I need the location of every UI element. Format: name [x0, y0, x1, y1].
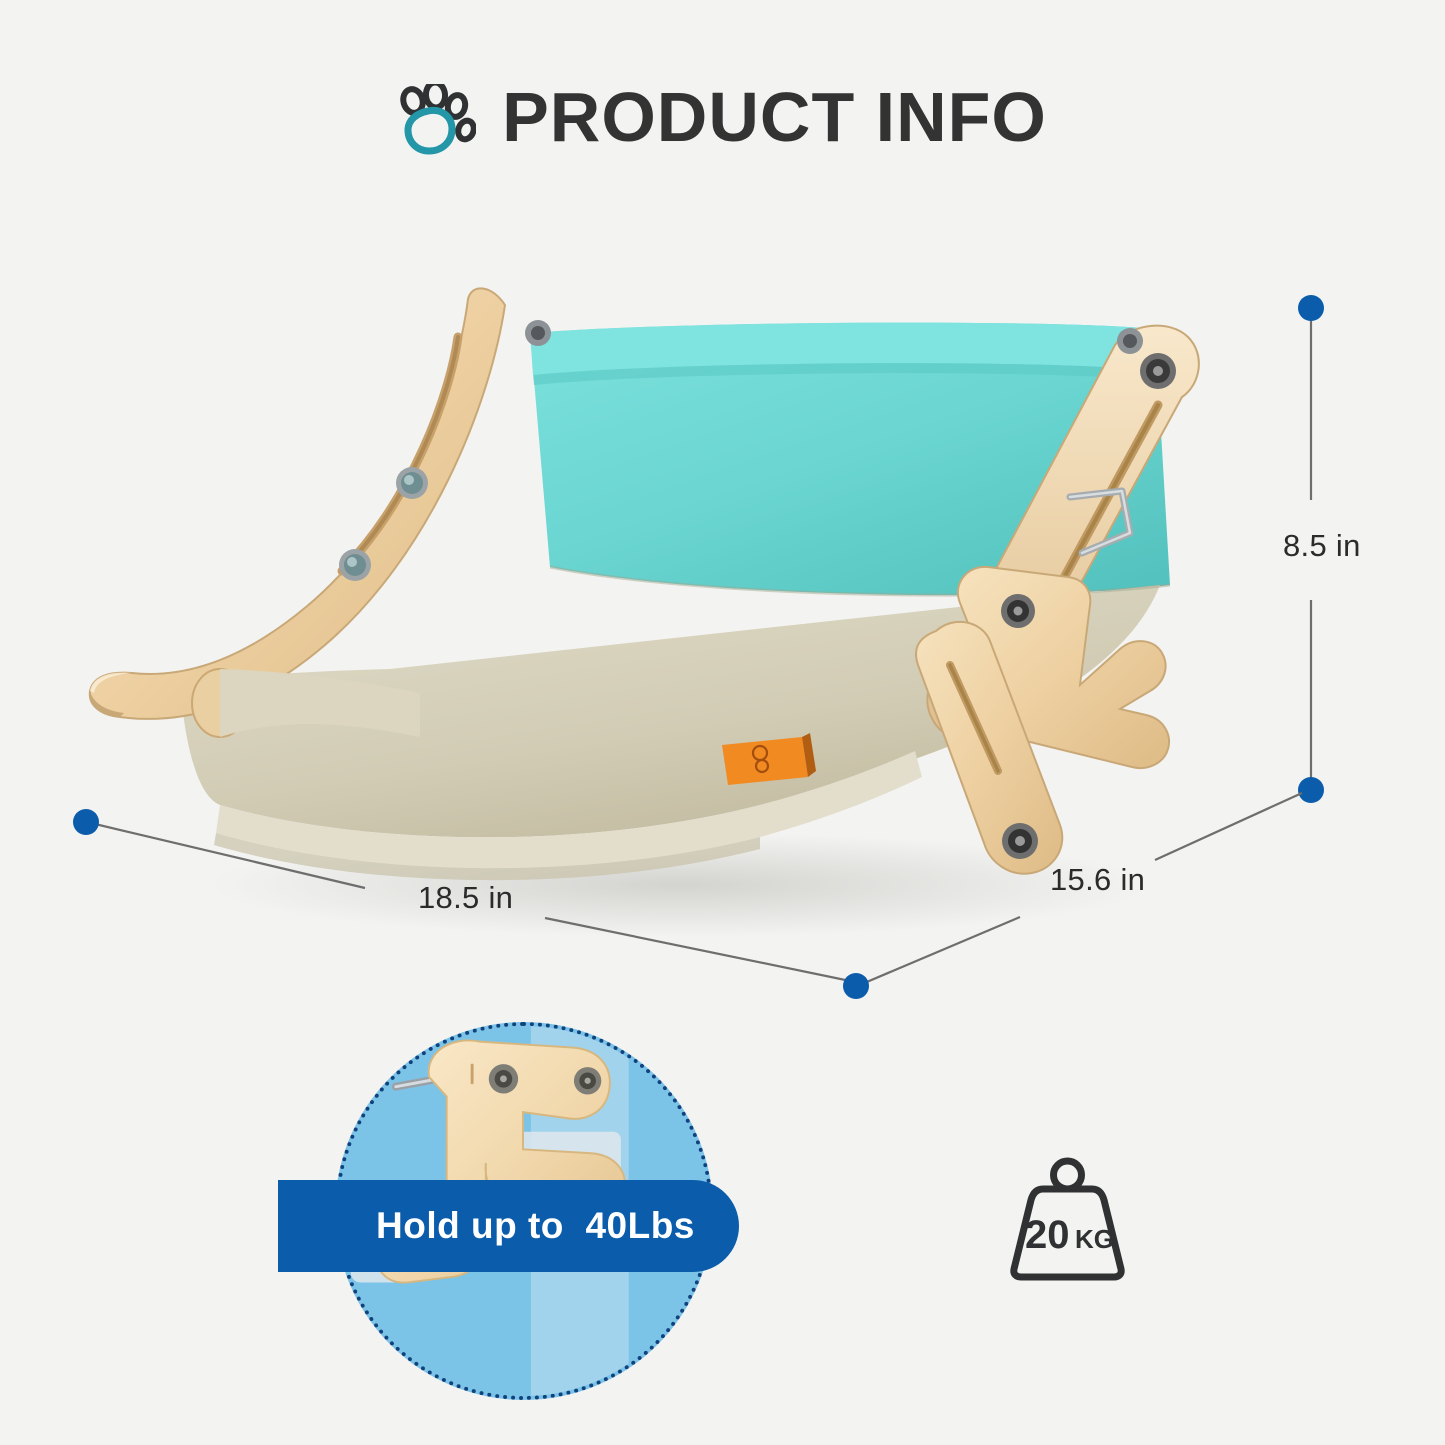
capacity-badge: Hold up to 40Lbs [278, 1180, 739, 1272]
left-adjust-bolt-lower [339, 549, 371, 581]
weight-value: 20 [1025, 1213, 1070, 1257]
height-endpoint-bottom [1298, 777, 1324, 803]
fabric-grommet-right [1117, 328, 1143, 354]
dimension-label-height: 8.5 in [1283, 528, 1361, 564]
capacity-badge-text: Hold up to 40Lbs [376, 1205, 695, 1247]
product-photo [60, 285, 1290, 945]
weight-unit: KG [1075, 1224, 1114, 1254]
page-header: PRODUCT INFO [0, 78, 1445, 156]
weight-icon: 20 KG [1005, 1155, 1130, 1285]
infographic-canvas: PRODUCT INFO [0, 0, 1445, 1445]
pivot-bolt-top [1140, 353, 1176, 389]
fabric-grommet-left [525, 320, 551, 346]
left-adjust-bolt-upper [396, 467, 428, 499]
paw-print-icon [398, 84, 476, 156]
depth-endpoint-bottom [843, 973, 869, 999]
height-endpoint-top [1298, 295, 1324, 321]
page-title: PRODUCT INFO [502, 82, 1047, 152]
pivot-bolt-lower [1002, 823, 1038, 859]
bracket-bolt-mid [1001, 594, 1035, 628]
